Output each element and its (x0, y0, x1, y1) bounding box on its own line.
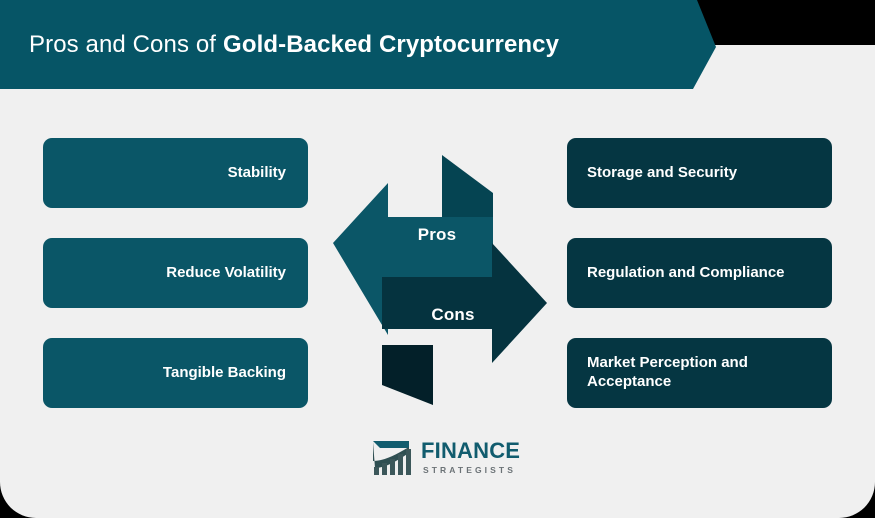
page-title-regular: Pros and Cons of (29, 31, 216, 59)
cons-item-regulation-and-compliance[interactable]: Regulation and Compliance (567, 238, 832, 308)
cons-item-label: Storage and Security (587, 164, 737, 183)
pros-arrow-tail-icon (442, 155, 493, 217)
pros-item-tangible-backing[interactable]: Tangible Backing (43, 338, 308, 408)
pros-item-label: Tangible Backing (163, 364, 286, 383)
center-arrows: Pros Cons (330, 155, 550, 405)
cons-column: Storage and Security Regulation and Comp… (567, 138, 832, 408)
logo-wordmark: FINANCE STRATEGISTS (421, 440, 520, 475)
cons-item-storage-and-security[interactable]: Storage and Security (567, 138, 832, 208)
pros-item-stability[interactable]: Stability (43, 138, 308, 208)
brand-logo[interactable]: FINANCE STRATEGISTS (371, 435, 511, 479)
pros-item-label: Reduce Volatility (166, 264, 286, 283)
infographic-card: Pros and Cons of Gold-Backed Cryptocurre… (0, 0, 875, 518)
arrows-svg (330, 155, 550, 405)
page-title-bold: Gold-Backed Cryptocurrency (223, 31, 559, 59)
pros-item-label: Stability (228, 164, 286, 183)
cons-arrow-label: Cons (398, 305, 508, 325)
logo-primary-text: FINANCE (421, 440, 520, 462)
pros-item-reduce-volatility[interactable]: Reduce Volatility (43, 238, 308, 308)
cons-item-market-perception-and-acceptance[interactable]: Market Perception and Acceptance (567, 338, 832, 408)
pros-column: Stability Reduce Volatility Tangible Bac… (43, 138, 308, 408)
cons-arrow-tail-icon-2 (382, 345, 433, 405)
finance-strategists-mark-icon (371, 437, 413, 477)
cons-item-label: Market Perception and Acceptance (587, 354, 814, 392)
pros-arrow-label: Pros (382, 225, 492, 245)
cons-item-label: Regulation and Compliance (587, 264, 785, 283)
logo-secondary-text: STRATEGISTS (423, 466, 520, 475)
page-title: Pros and Cons of Gold-Backed Cryptocurre… (29, 0, 559, 89)
